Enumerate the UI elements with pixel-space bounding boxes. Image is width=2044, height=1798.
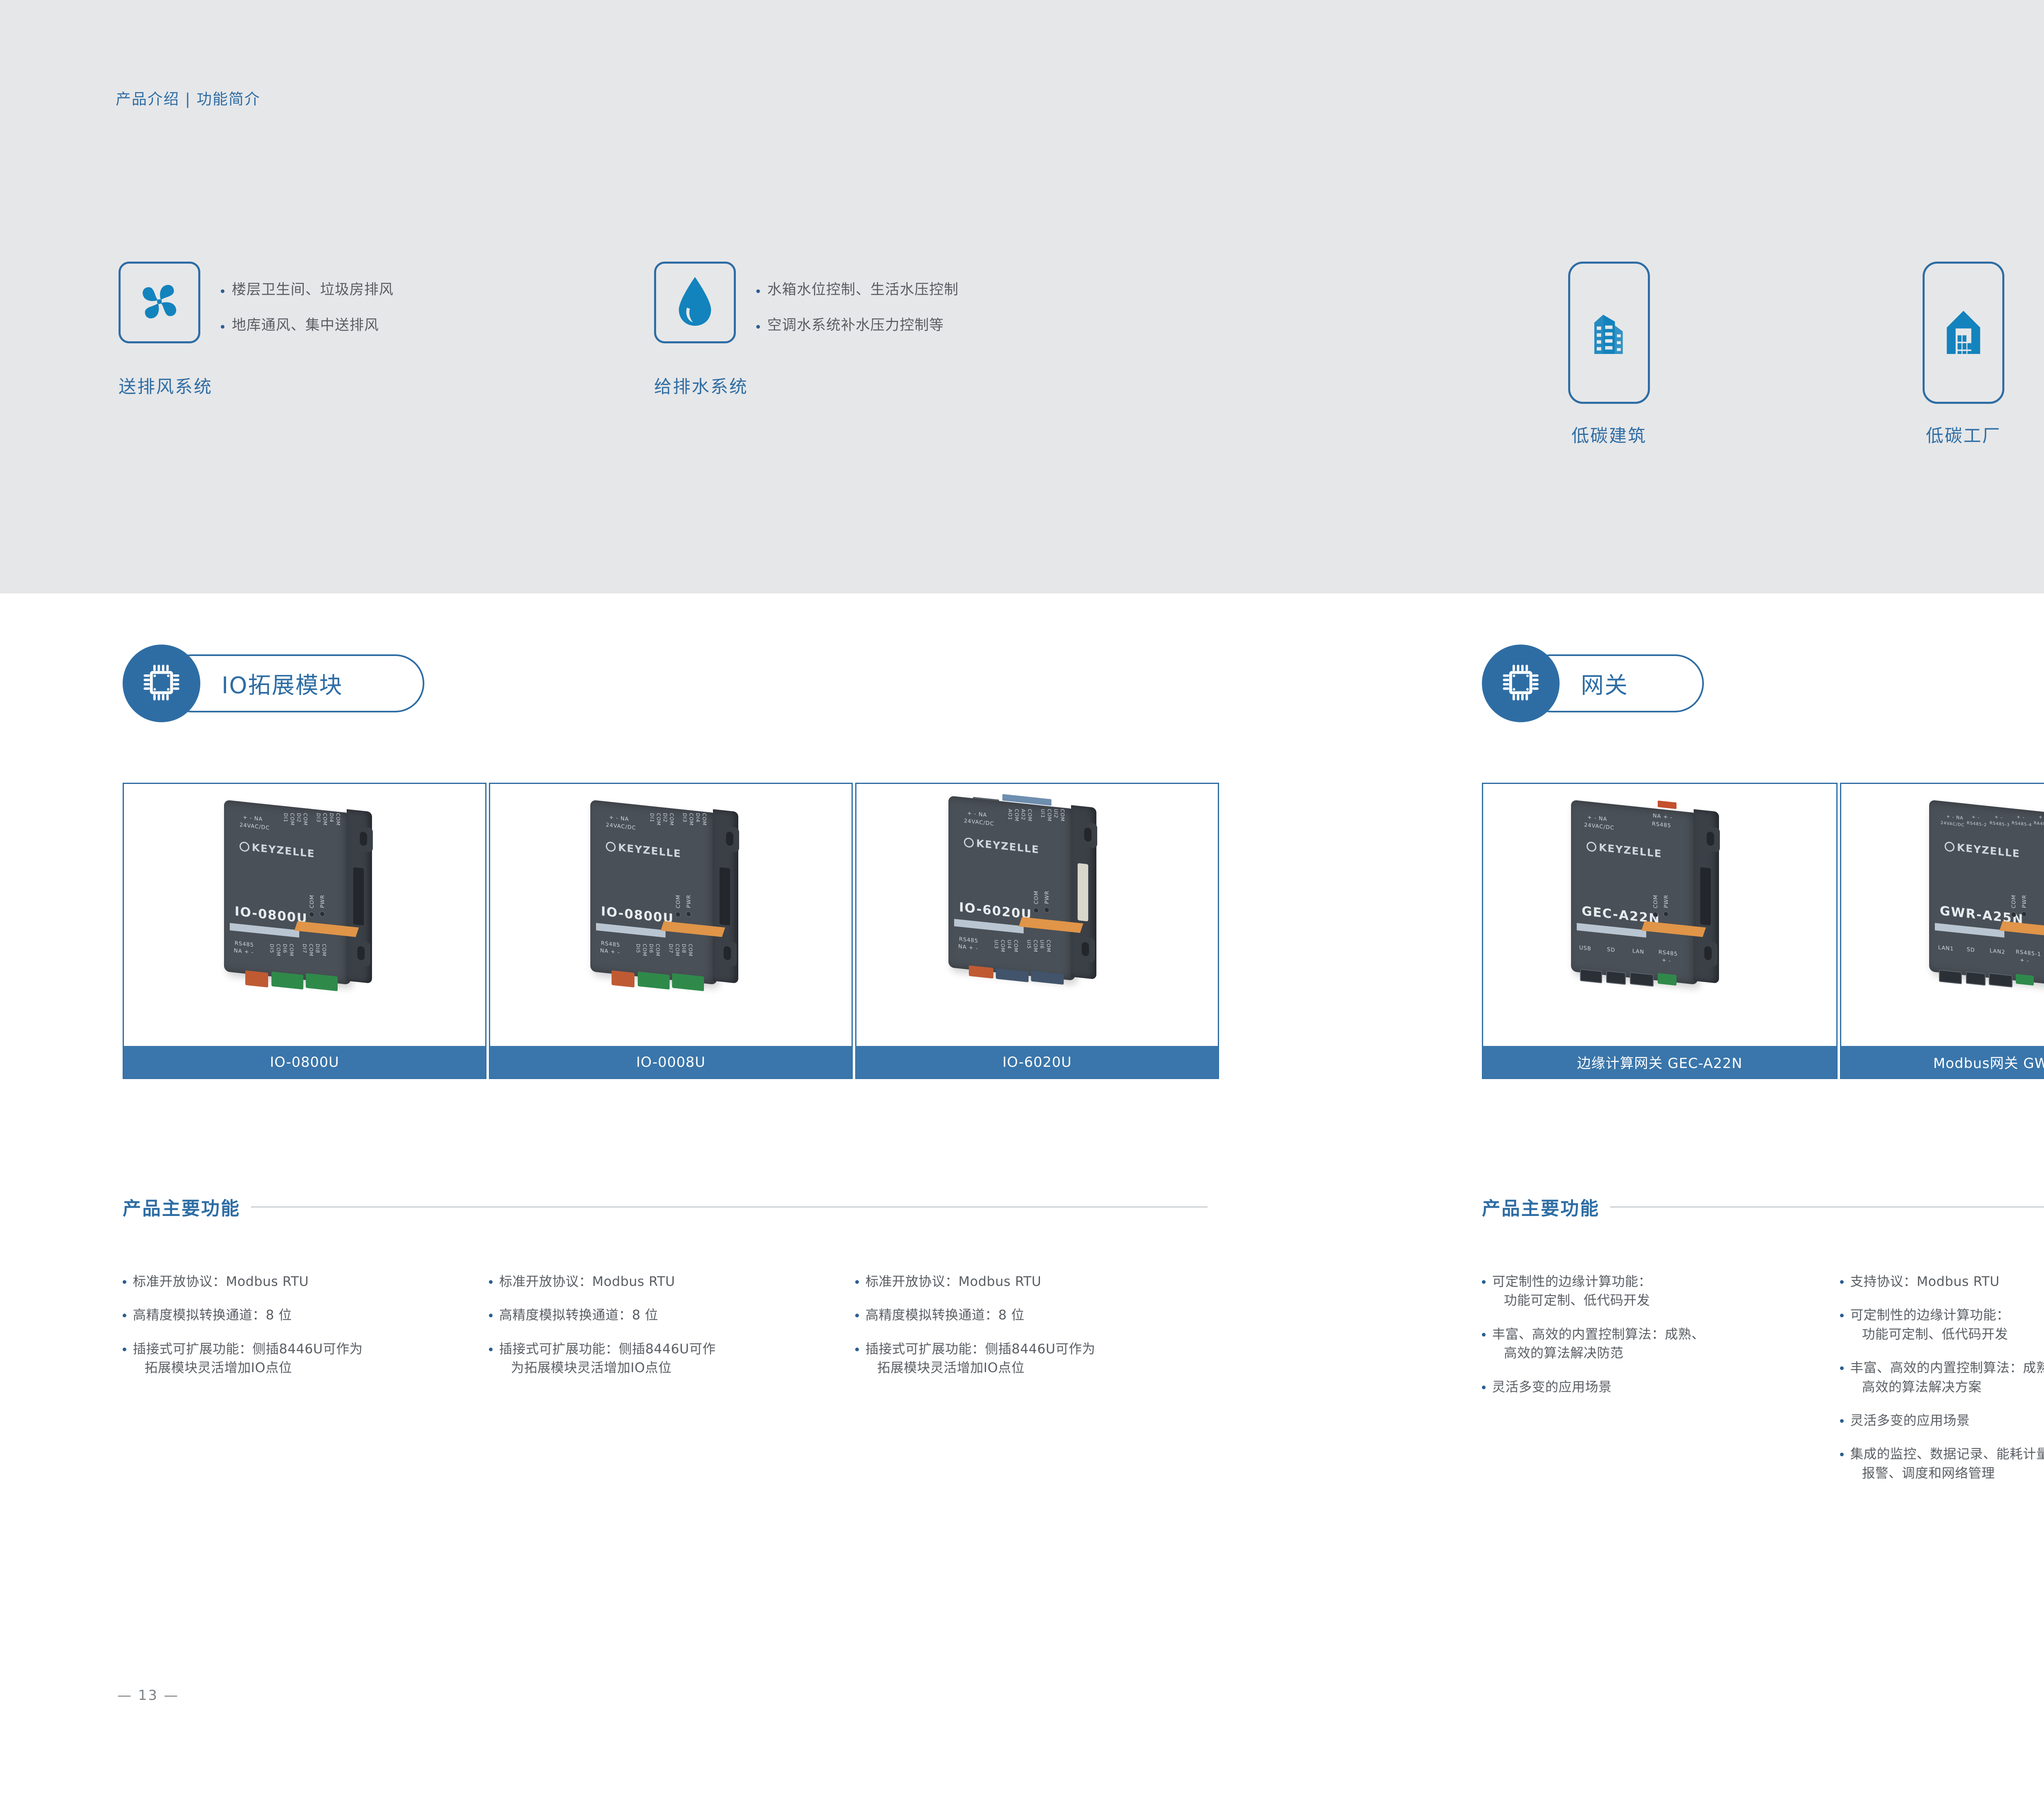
page-header-left: 产品介绍 | 功能简介 (116, 87, 260, 109)
bullet-text: 楼层卫生间、垃圾房排风 (232, 280, 394, 300)
chip-icon-circle (123, 645, 200, 722)
feature-text: 丰富、高效的内置控制算法：成熟、 (1492, 1326, 1705, 1342)
device-mount-ear (1699, 940, 1717, 967)
feature-text-cont: 高效的算法解决防范 (1492, 1343, 1705, 1362)
device-mount-ear (720, 826, 739, 853)
feature-text: 高精度模拟转换通道：8 位 (499, 1307, 658, 1323)
bullet-dot-icon (1482, 1333, 1486, 1337)
features-title: 产品主要功能 (123, 1193, 240, 1220)
device-mount-ear (352, 940, 370, 967)
terminal-label: DI8 (681, 943, 687, 965)
device-expansion-slot (1078, 863, 1088, 922)
product-name-label: IO-0008U (490, 1046, 852, 1078)
terminal-label: DI1 (283, 813, 289, 836)
feature-text: 高精度模拟转换通道：8 位 (865, 1307, 1024, 1323)
terminal-label: DI3 (316, 813, 321, 836)
terminal-label: COM (1047, 808, 1052, 832)
product-name-label: IO-0800U (123, 1046, 486, 1078)
led-bulb-icon (2022, 911, 2027, 917)
fan-icon (135, 278, 184, 327)
feature-text: 灵活多变的应用场景 (1492, 1379, 1612, 1395)
feature-column: 可定制性的边缘计算功能：功能可定制、低代码开发 丰富、高效的内置控制算法：成熟、… (1482, 1272, 1817, 1411)
bullet-dot-icon (221, 325, 224, 329)
heading-rule (1610, 1207, 2044, 1207)
product-card[interactable]: + - NA 24VAC/DC DI1 COM DI2 COM DI3 COM … (489, 783, 853, 1079)
terminal-label: DI5 (635, 943, 641, 965)
feature-text: 高精度模拟转换通道：8 位 (133, 1307, 292, 1323)
product-image: + - NA 24VAC/DC NA + - RS485 KEYZELLE GE… (1483, 784, 1836, 1046)
feature-column: 支持协议：Modbus RTU 可定制性的边缘计算功能：功能可定制、低代码开发 … (1840, 1272, 2044, 1497)
terminal-label: DI1 (649, 813, 655, 836)
status-led-pwr: PWR (1044, 890, 1050, 913)
led-bulb-icon (1653, 911, 1658, 917)
list-item: 高精度模拟转换通道：8 位 (855, 1305, 1199, 1324)
features-heading-gateway: 产品主要功能 (1482, 1193, 2044, 1220)
bullet-dot-icon (123, 1280, 126, 1284)
chip-icon (1497, 658, 1545, 708)
list-item: 地库通风、集中送排风 (221, 316, 394, 335)
low-carbon-caption: 低碳工厂 (1926, 422, 2001, 447)
bullet-dot-icon (1482, 1386, 1486, 1389)
status-led-com: COM (309, 894, 315, 917)
list-item: 高精度模拟转换通道：8 位 (489, 1305, 832, 1324)
terminal-label: COM (655, 943, 661, 965)
port-label-sd: SD (1607, 947, 1615, 954)
product-card[interactable]: + - NA 24VAC/DC AO1 COM AO2 COM UI1 COM … (855, 783, 1219, 1079)
brand-mark-icon (240, 841, 249, 852)
usb-port (1580, 969, 1602, 983)
bullet-text: 地库通风、集中送排风 (232, 316, 379, 335)
device-mount-ear (1701, 826, 1720, 853)
product-image: + - NA 24VAC/DC + - RS485-2 + - RS485-3 … (1841, 784, 2044, 1046)
list-item: 插接式可扩展功能：侧插8446U可作为拓展模块灵活增加IO点位 (855, 1339, 1199, 1377)
feature-text: 灵活多变的应用场景 (1850, 1413, 1970, 1428)
terminal-label: COM (322, 813, 328, 836)
status-led-pwr: PWR (1663, 894, 1670, 917)
factory-icon (1939, 306, 1988, 360)
list-item: 支持协议：Modbus RTU (1840, 1272, 2044, 1291)
bullet-dot-icon (489, 1314, 493, 1317)
bullet-dot-icon (1482, 1280, 1486, 1284)
terminal-label: COM (308, 943, 314, 965)
terminal-connector (672, 973, 704, 991)
brand-mark-icon (606, 841, 616, 852)
terminal-label: COM (289, 813, 295, 836)
bullet-dot-icon (489, 1348, 493, 1351)
terminal-connector (1658, 973, 1676, 986)
feature-text-cont: 高效的算法解决方案 (1850, 1377, 2044, 1396)
bullet-dot-icon (1840, 1280, 1844, 1284)
terminal-label: DI6 (648, 943, 654, 965)
bullet-dot-icon (1840, 1314, 1844, 1317)
led-bulb-icon (686, 911, 691, 917)
feature-text-cont: 拓展模块灵活增加IO点位 (865, 1358, 1095, 1377)
bullet-text: 水箱水位控制、生活水压控制 (767, 280, 959, 300)
feature-text: 标准开放协议：Modbus RTU (499, 1274, 675, 1289)
terminal-label: DI4 (695, 813, 701, 836)
device-illustration: + - NA 24VAC/DC + - RS485-2 + - RS485-3 … (1929, 806, 2044, 1011)
list-item: 插接式可扩展功能：侧插8446U可作为拓展模块灵活增加IO点位 (489, 1339, 832, 1377)
device-mount-ear (718, 940, 737, 967)
top-comb-connector (1658, 801, 1676, 809)
device-illustration: + - NA 24VAC/DC AO1 COM AO2 COM UI1 COM … (948, 802, 1104, 1007)
feature-text: 可定制性的边缘计算功能： (1850, 1307, 2010, 1323)
status-led-pwr: PWR (686, 894, 692, 917)
water-drop-icon (675, 275, 715, 329)
feature-text-cont: 报警、调度和网络管理 (1850, 1464, 2044, 1482)
terminal-connector (245, 970, 268, 987)
bullet-dot-icon (1840, 1366, 1844, 1370)
feature-text-cont: 为拓展模块灵活增加IO点位 (499, 1358, 716, 1377)
feature-text: 集成的监控、数据记录、能耗计量、 (1850, 1446, 2044, 1462)
terminal-label: DI8 (315, 943, 320, 965)
led-bulb-icon (1663, 911, 1669, 917)
feature-column: 标准开放协议：Modbus RTU 高精度模拟转换通道：8 位 插接式可扩展功能… (489, 1272, 832, 1392)
port-label-usb: USB (1579, 945, 1591, 952)
product-image: + - NA 24VAC/DC DI1 COM DI2 COM DI3 COM … (124, 784, 485, 1046)
chip-icon-circle (1482, 645, 1560, 722)
device-illustration: + - NA 24VAC/DC DI1 COM DI2 COM DI3 COM … (224, 806, 379, 1011)
product-image: + - NA 24VAC/DC DI1 COM DI2 COM DI3 COM … (490, 784, 852, 1046)
lan1-port (1939, 970, 1962, 984)
office-building-icon-box (1568, 262, 1650, 404)
factory-icon-box (1923, 262, 2004, 404)
features-title: 产品主要功能 (1482, 1193, 1600, 1220)
terminal-label: AO1 (1007, 808, 1013, 832)
feature-text: 插接式可扩展功能：侧插8446U可作为 (865, 1341, 1095, 1357)
list-item: 可定制性的边缘计算功能：功能可定制、低代码开发 (1482, 1272, 1817, 1310)
list-item: 插接式可扩展功能：侧插8446U可作为拓展模块灵活增加IO点位 (123, 1339, 466, 1377)
terminal-label: COM (1046, 939, 1051, 961)
terminal-label: COM (702, 813, 707, 836)
terminal-label: COM (669, 813, 675, 836)
terminal-label: DI3 (682, 813, 688, 836)
bullet-dot-icon (855, 1348, 859, 1351)
status-led-com: COM (1653, 894, 1659, 917)
terminal-label: UI6 (1039, 939, 1045, 961)
list-item: 标准开放协议：Modbus RTU (123, 1272, 466, 1291)
terminal-label: COM (688, 943, 693, 965)
feature-text: 插接式可扩展功能：侧插8446U可作为 (133, 1341, 363, 1357)
bus-pins-label: + - (2039, 814, 2044, 820)
bus-pins-label: + - (1995, 814, 2003, 820)
terminal-connector (612, 970, 634, 987)
bullet-dot-icon (855, 1280, 859, 1284)
ventilation-bullet-list: 楼层卫生间、垃圾房排风 地库通风、集中送排风 (221, 280, 394, 352)
terminal-label: AO2 (1020, 808, 1026, 832)
badge-pill: IO拓展模块 (163, 654, 424, 712)
list-item: 丰富、高效的内置控制算法：成熟、高效的算法解决方案 (1840, 1358, 2044, 1396)
led-bulb-icon (309, 911, 314, 917)
device-expansion-slot (1700, 867, 1711, 926)
terminal-label: COM (642, 943, 648, 965)
feature-column: 标准开放协议：Modbus RTU 高精度模拟转换通道：8 位 插接式可扩展功能… (855, 1272, 1199, 1392)
terminal-connector (638, 972, 670, 990)
page-number-left: — 13 — (117, 1687, 179, 1704)
led-bulb-icon (1033, 907, 1039, 913)
list-item: 丰富、高效的内置控制算法：成熟、高效的算法解决防范 (1482, 1325, 1817, 1363)
status-led-com: COM (1033, 890, 1040, 913)
led-bulb-icon (1044, 907, 1049, 913)
status-led-com: COM (2011, 894, 2017, 917)
terminal-label: COM (1013, 939, 1019, 961)
device-expansion-slot (353, 867, 364, 926)
feature-text-cont: 功能可定制、低代码开发 (1850, 1325, 2010, 1343)
bullet-dot-icon (123, 1314, 126, 1317)
terminal-label: COM (321, 943, 327, 965)
product-card[interactable]: + - NA 24VAC/DC NA + - RS485 KEYZELLE GE… (1482, 783, 1838, 1079)
bullet-text: 空调水系统补水压力控制等 (767, 316, 944, 335)
led-bulb-icon (675, 911, 681, 917)
bullet-dot-icon (855, 1314, 859, 1317)
port-pins-label: + - (1662, 957, 1671, 964)
feature-text: 标准开放协议：Modbus RTU (865, 1274, 1041, 1289)
terminal-label: COM (1033, 939, 1038, 961)
sd-slot (1966, 971, 1986, 985)
product-card[interactable]: + - NA 24VAC/DC + - RS485-2 + - RS485-3 … (1840, 783, 2044, 1079)
scenario-caption: 送排风系统 (119, 373, 213, 398)
terminal-label: COM (656, 813, 661, 836)
water-bullet-list: 水箱水位控制、生活水压控制 空调水系统补水压力控制等 (756, 280, 959, 352)
terminal-label: COM (289, 943, 294, 965)
feature-text: 丰富、高效的内置控制算法：成熟、 (1850, 1360, 2044, 1375)
feature-text: 可定制性的边缘计算功能： (1492, 1274, 1652, 1289)
bullet-dot-icon (123, 1348, 126, 1351)
list-item: 高精度模拟转换通道：8 位 (123, 1305, 466, 1324)
terminal-label: UI3 (993, 939, 999, 961)
brand-mark-icon (1945, 841, 1954, 852)
bus-pins-label: + - (2017, 814, 2025, 820)
terminal-label: DI6 (282, 943, 288, 965)
bullet-dot-icon (1840, 1419, 1844, 1423)
list-item: 灵活多变的应用场景 (1840, 1411, 2044, 1430)
low-carbon-caption: 低碳建筑 (1571, 422, 1647, 447)
terminal-label: DI2 (662, 813, 668, 836)
section-badge-label: IO拓展模块 (222, 667, 343, 700)
feature-text-cont: 功能可定制、低代码开发 (1492, 1291, 1652, 1310)
heading-rule (251, 1207, 1208, 1207)
bus-pins-label: + - (1972, 814, 1980, 820)
bullet-dot-icon (221, 289, 224, 293)
led-bulb-icon (320, 911, 325, 917)
scenario-ventilation: 楼层卫生间、垃圾房排风 地库通风、集中送排风 送排风系统 (119, 262, 609, 401)
port-label-sd: SD (1967, 947, 1975, 954)
terminal-connector (969, 965, 993, 978)
list-item: 楼层卫生间、垃圾房排风 (221, 280, 394, 300)
terminal-label: COM (688, 813, 694, 836)
section-badge-label: 网关 (1581, 667, 1628, 700)
status-led-pwr: PWR (2022, 894, 2028, 917)
product-name-label: Modbus网关 GWR-A25N (1841, 1046, 2044, 1078)
list-item: 标准开放协议：Modbus RTU (489, 1272, 832, 1291)
fan-icon-box (119, 262, 200, 343)
terminal-label: DI2 (296, 813, 302, 836)
device-expansion-slot (719, 867, 730, 926)
terminal-label: DI7 (302, 943, 307, 965)
brand-mark-icon (1587, 841, 1596, 852)
terminal-connector (271, 972, 303, 990)
feature-text: 插接式可扩展功能：侧插8446U可作 (499, 1341, 716, 1357)
device-illustration: + - NA 24VAC/DC NA + - RS485 KEYZELLE GE… (1571, 806, 1726, 1011)
feature-text: 支持协议：Modbus RTU (1850, 1274, 1999, 1289)
list-item: 标准开放协议：Modbus RTU (855, 1272, 1199, 1291)
water-drop-icon-box (654, 262, 736, 343)
feature-text-cont: 拓展模块灵活增加IO点位 (133, 1358, 363, 1377)
port-label-lan: LAN (1632, 948, 1644, 955)
terminal-label: COM (276, 943, 281, 965)
brand-mark-icon (964, 837, 974, 848)
bullet-dot-icon (756, 289, 760, 293)
list-item: 水箱水位控制、生活水压控制 (756, 280, 959, 300)
feature-text: 标准开放协议：Modbus RTU (133, 1274, 309, 1289)
lan2-port (1989, 973, 2013, 987)
terminal-connector (2016, 974, 2034, 986)
bullet-dot-icon (489, 1280, 493, 1284)
chip-icon (137, 658, 186, 708)
terminal-label: COM (1027, 808, 1033, 832)
terminal-label: UI5 (1026, 939, 1032, 961)
port-pins-label: + - (2020, 957, 2029, 964)
scenario-caption: 给排水系统 (654, 373, 748, 398)
terminal-label: UI1 (1040, 808, 1046, 832)
product-name-label: IO-6020U (856, 1046, 1218, 1078)
features-heading-io: 产品主要功能 (123, 1193, 1222, 1220)
terminal-label: DI4 (329, 813, 334, 836)
feature-column: 标准开放协议：Modbus RTU 高精度模拟转换通道：8 位 插接式可扩展功能… (123, 1272, 466, 1392)
sd-slot (1606, 970, 1626, 985)
list-item: 空调水系统补水压力控制等 (756, 316, 959, 335)
terminal-label: UI4 (1006, 939, 1012, 961)
device-mount-ear (1076, 936, 1095, 963)
list-item: 集成的监控、数据记录、能耗计量、报警、调度和网络管理 (1840, 1444, 2044, 1482)
terminal-label: COM (335, 813, 341, 836)
lan-port (1630, 972, 1654, 987)
terminal-label: COM (1060, 808, 1065, 832)
list-item: 可定制性的边缘计算功能：功能可定制、低代码开发 (1840, 1305, 2044, 1343)
terminal-label: COM (1000, 939, 1006, 961)
bullet-dot-icon (756, 325, 760, 329)
led-bulb-icon (2011, 911, 2016, 917)
device-mount-ear (354, 826, 373, 853)
product-image: + - NA 24VAC/DC AO1 COM AO2 COM UI1 COM … (856, 784, 1218, 1046)
status-led-pwr: PWR (320, 894, 326, 917)
scenario-water-supply: 水箱水位控制、生活水压控制 空调水系统补水压力控制等 给排水系统 (654, 262, 1186, 401)
terminal-label: COM (303, 813, 308, 836)
office-building-icon (1585, 306, 1634, 360)
terminal-label: COM (1014, 808, 1020, 832)
terminal-connector (306, 973, 338, 991)
terminal-label: COM (675, 943, 680, 965)
terminal-label: UI2 (1053, 808, 1059, 832)
device-illustration: + - NA 24VAC/DC DI1 COM DI2 COM DI3 COM … (590, 806, 746, 1011)
terminal-label: DI7 (668, 943, 674, 965)
bullet-dot-icon (1840, 1453, 1844, 1456)
product-name-label: 边缘计算网关 GEC-A22N (1483, 1046, 1837, 1078)
list-item: 灵活多变的应用场景 (1482, 1377, 1817, 1396)
product-card[interactable]: + - NA 24VAC/DC DI1 COM DI2 COM DI3 COM … (123, 783, 486, 1079)
device-mount-ear (1078, 822, 1097, 849)
status-led-com: COM (675, 894, 681, 917)
terminal-label: DI5 (269, 943, 275, 965)
